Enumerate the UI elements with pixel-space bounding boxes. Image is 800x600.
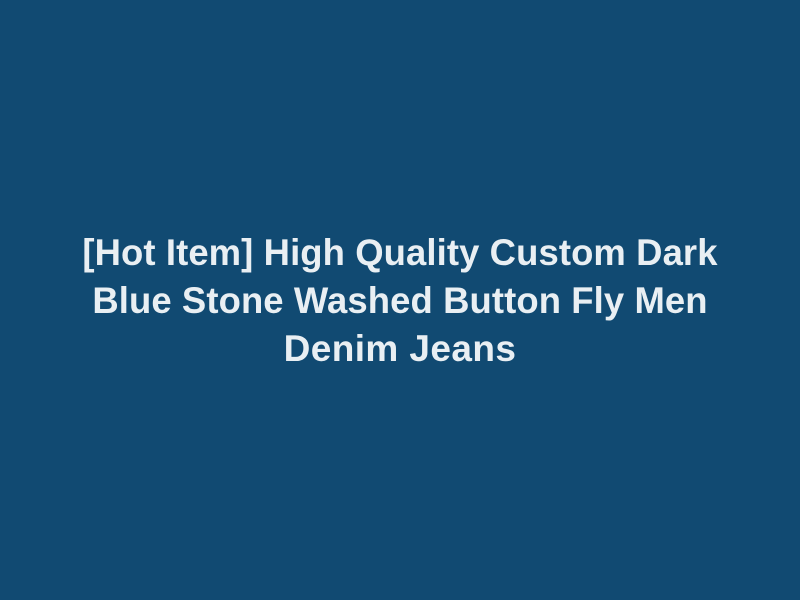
- product-title-line-2: Blue Stone Washed Button Fly Men: [69, 277, 731, 325]
- placeholder-image-canvas: [Hot Item] High Quality Custom Dark Blue…: [0, 0, 800, 600]
- product-title-line-1: [Hot Item] High Quality Custom Dark: [69, 229, 731, 277]
- product-title-line-3: Denim Jeans: [64, 325, 736, 373]
- product-title-block: [Hot Item] High Quality Custom Dark Blue…: [50, 229, 750, 373]
